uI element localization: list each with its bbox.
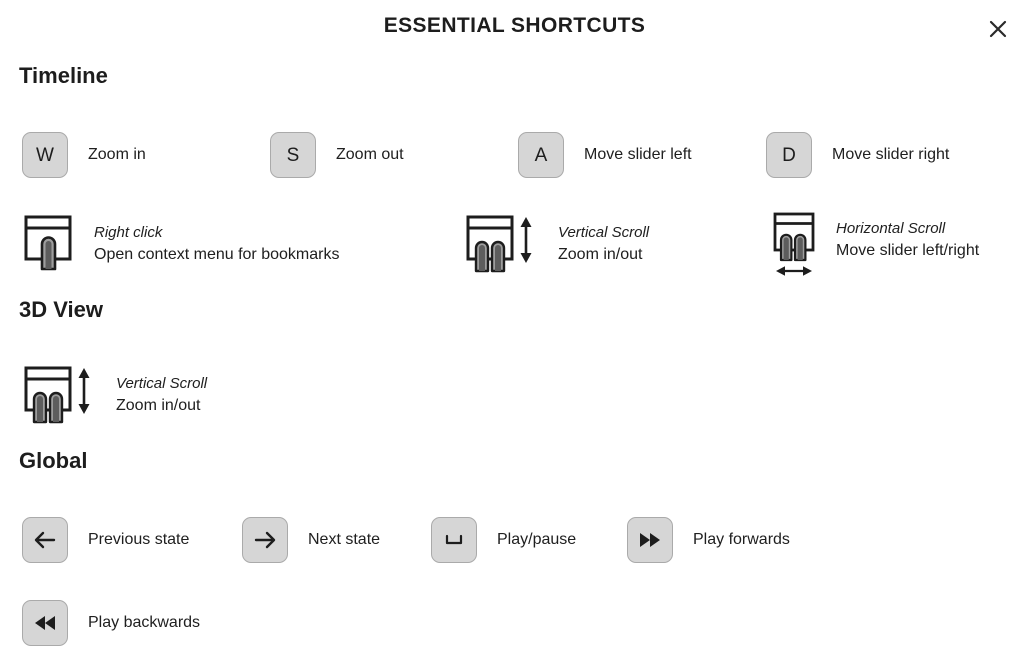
key-arrow-left[interactable] — [22, 517, 68, 563]
key-spacebar[interactable] — [431, 517, 477, 563]
key-w[interactable]: W — [22, 132, 68, 178]
shortcut-next-state[interactable]: Next state — [242, 510, 380, 570]
trackpad-horizontal-scroll-icon — [770, 208, 820, 285]
gesture-horizontal-scroll[interactable]: Horizontal Scroll Move slider left/right — [770, 210, 979, 282]
shortcut-zoom-in-label: Zoom in — [88, 146, 146, 164]
gesture-horizontal-scroll-text: Horizontal Scroll Move slider left/right — [836, 218, 979, 263]
key-arrow-right[interactable] — [242, 517, 288, 563]
gesture-3d-vertical-scroll[interactable]: Vertical Scroll Zoom in/out — [22, 365, 207, 425]
section-heading-global: Global — [19, 448, 87, 474]
gesture-horizontal-scroll-desc: Move slider left/right — [836, 239, 979, 262]
key-fast-forward[interactable] — [627, 517, 673, 563]
shortcut-zoom-in[interactable]: W Zoom in — [22, 125, 146, 185]
key-d-glyph: D — [782, 146, 796, 165]
arrow-right-icon — [253, 528, 277, 552]
spacebar-icon — [442, 528, 466, 552]
key-a-glyph: A — [535, 146, 548, 165]
gesture-3d-vertical-scroll-desc: Zoom in/out — [116, 394, 207, 417]
timeline-key-row: W Zoom in S Zoom out A Move slider left … — [0, 125, 1029, 185]
shortcut-move-slider-left[interactable]: A Move slider left — [518, 125, 692, 185]
gesture-3d-vertical-scroll-action: Vertical Scroll — [116, 373, 207, 395]
global-key-row-1: Previous state Next state — [0, 510, 1029, 570]
trackpad-right-click-icon — [22, 211, 78, 278]
key-a[interactable]: A — [518, 132, 564, 178]
gesture-vertical-scroll-text: Vertical Scroll Zoom in/out — [558, 222, 649, 267]
page-title: ESSENTIAL SHORTCUTS — [0, 14, 1029, 38]
close-button[interactable] — [981, 12, 1015, 46]
gesture-vertical-scroll-action: Vertical Scroll — [558, 222, 649, 244]
shortcut-previous-state-label: Previous state — [88, 531, 189, 549]
shortcut-play-forwards[interactable]: Play forwards — [627, 510, 790, 570]
key-rewind[interactable] — [22, 600, 68, 646]
shortcut-move-slider-left-label: Move slider left — [584, 146, 692, 164]
trackpad-vertical-scroll-icon — [464, 211, 542, 278]
gesture-vertical-scroll-desc: Zoom in/out — [558, 243, 649, 266]
shortcut-play-forwards-label: Play forwards — [693, 531, 790, 549]
gesture-right-click-text: Right click Open context menu for bookma… — [94, 222, 339, 267]
shortcut-move-slider-right[interactable]: D Move slider right — [766, 125, 949, 185]
key-w-glyph: W — [36, 146, 54, 165]
view3d-gesture-row: Vertical Scroll Zoom in/out — [0, 365, 1029, 425]
shortcut-previous-state[interactable]: Previous state — [22, 510, 189, 570]
shortcuts-dialog: ESSENTIAL SHORTCUTS Timeline W Zoom in S… — [0, 0, 1029, 665]
gesture-3d-vertical-scroll-text: Vertical Scroll Zoom in/out — [116, 373, 207, 418]
gesture-right-click-action: Right click — [94, 222, 339, 244]
shortcut-zoom-out-label: Zoom out — [336, 146, 404, 164]
arrow-left-icon — [33, 528, 57, 552]
section-heading-timeline: Timeline — [19, 63, 108, 89]
shortcut-zoom-out[interactable]: S Zoom out — [270, 125, 404, 185]
key-s[interactable]: S — [270, 132, 316, 178]
gesture-right-click-desc: Open context menu for bookmarks — [94, 243, 339, 266]
gesture-horizontal-scroll-action: Horizontal Scroll — [836, 218, 979, 240]
key-d[interactable]: D — [766, 132, 812, 178]
shortcut-play-backwards[interactable]: Play backwards — [22, 593, 200, 653]
shortcut-play-pause[interactable]: Play/pause — [431, 510, 576, 570]
shortcut-next-state-label: Next state — [308, 531, 380, 549]
key-s-glyph: S — [287, 146, 300, 165]
trackpad-vertical-scroll-icon — [22, 362, 100, 429]
gesture-vertical-scroll[interactable]: Vertical Scroll Zoom in/out — [464, 214, 649, 274]
close-icon — [988, 19, 1008, 39]
fast-forward-icon — [637, 528, 663, 552]
rewind-icon — [32, 611, 58, 635]
global-key-row-2: Play backwards — [0, 593, 1029, 653]
gesture-right-click[interactable]: Right click Open context menu for bookma… — [22, 214, 339, 274]
shortcut-move-slider-right-label: Move slider right — [832, 146, 949, 164]
section-heading-3dview: 3D View — [19, 297, 103, 323]
shortcut-play-pause-label: Play/pause — [497, 531, 576, 549]
timeline-gesture-row: Right click Open context menu for bookma… — [0, 214, 1029, 274]
shortcut-play-backwards-label: Play backwards — [88, 614, 200, 632]
